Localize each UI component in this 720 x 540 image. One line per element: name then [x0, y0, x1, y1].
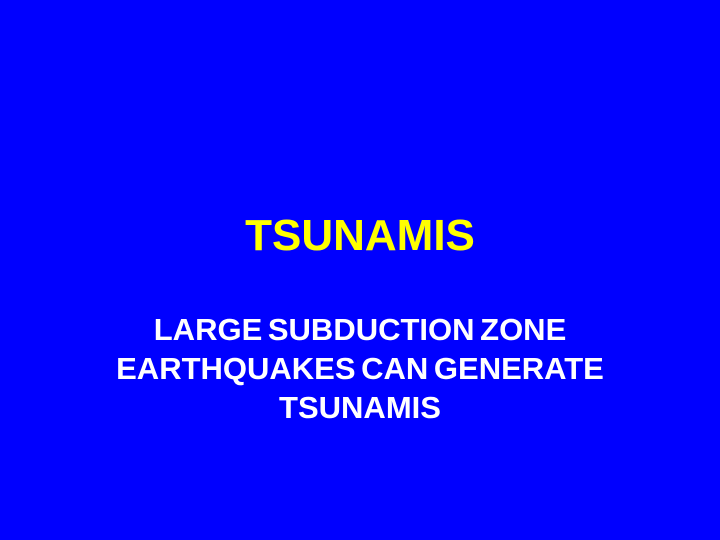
body-line: EARTHQUAKES CAN GENERATE — [0, 349, 720, 388]
presentation-slide: TSUNAMIS LARGE SUBDUCTION ZONE EARTHQUAK… — [0, 0, 720, 540]
slide-body-text: LARGE SUBDUCTION ZONE EARTHQUAKES CAN GE… — [0, 310, 720, 427]
body-line: TSUNAMIS — [0, 388, 720, 427]
body-line: LARGE SUBDUCTION ZONE — [0, 310, 720, 349]
page-title: TSUNAMIS — [0, 214, 720, 258]
